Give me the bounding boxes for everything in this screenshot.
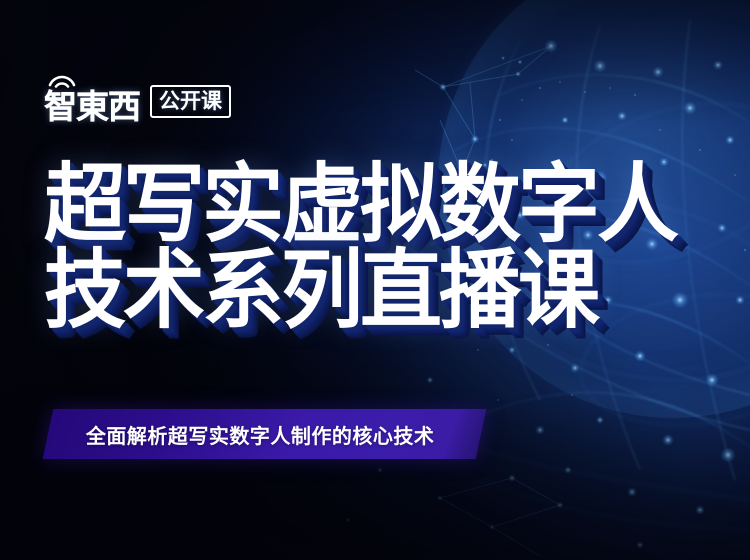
zhidongxi-logo-mark: 智東西 [44,78,140,124]
open-class-badge[interactable]: 公开课 [150,85,231,118]
brand-logo[interactable]: 智東西 公开课 [44,78,231,124]
page-title: 超写实虚拟数字人 技术系列直播课 [44,160,676,332]
poster-canvas: 智東西 公开课 超写实虚拟数字人 技术系列直播课 全面解析超写实数字人制作的核心… [0,0,750,560]
subtitle-banner: 全面解析超写实数字人制作的核心技术 [48,409,481,459]
title-line-1: 超写实虚拟数字人 [44,160,676,250]
subtitle-text: 全面解析超写实数字人制作的核心技术 [86,420,435,449]
subtitle-banner-shape: 全面解析超写实数字人制作的核心技术 [43,409,486,459]
logo-text: 智東西 [44,90,140,124]
title-line-2: 技术系列直播课 [44,246,676,336]
